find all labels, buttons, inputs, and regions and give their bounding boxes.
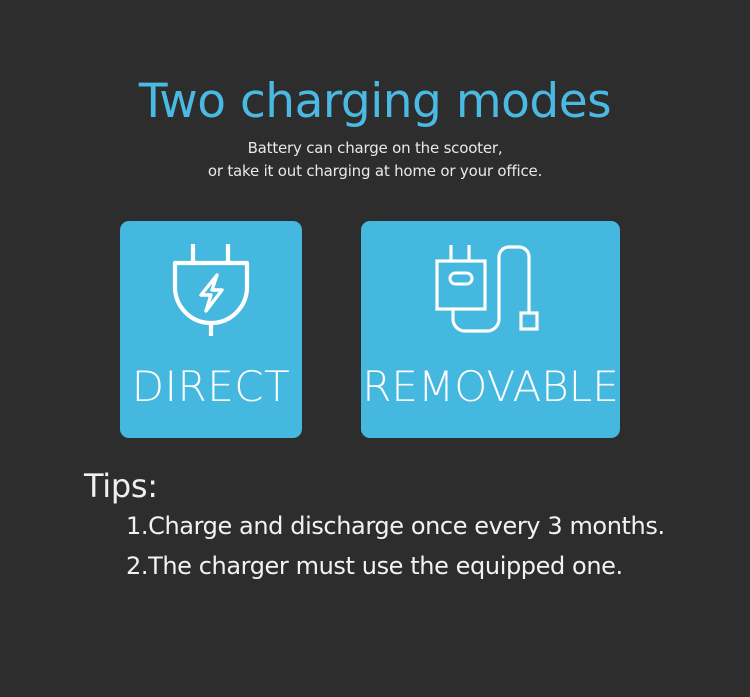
tips-heading: Tips: — [84, 466, 724, 506]
charger-adapter-icon — [361, 221, 620, 357]
subtitle-line-2: or take it out charging at home or your … — [0, 160, 750, 183]
card-direct[interactable]: DIRECT — [120, 221, 302, 438]
list-item: 1.Charge and discharge once every 3 mont… — [126, 506, 724, 546]
list-item: 2.The charger must use the equipped one. — [126, 546, 724, 586]
card-removable[interactable]: REMOVABLE — [361, 221, 620, 438]
card-removable-label: REMOVABLE — [361, 361, 620, 413]
subtitle-line-1: Battery can charge on the scooter, — [0, 137, 750, 160]
page-title: Two charging modes — [0, 74, 750, 130]
power-plug-icon — [120, 221, 302, 357]
tips-list: 1.Charge and discharge once every 3 mont… — [84, 506, 724, 586]
page-subtitle: Battery can charge on the scooter, or ta… — [0, 130, 750, 183]
tips-section: Tips: 1.Charge and discharge once every … — [84, 466, 724, 586]
header: Two charging modes Battery can charge on… — [0, 74, 750, 183]
promo-page: Two charging modes Battery can charge on… — [0, 0, 750, 697]
card-direct-label: DIRECT — [120, 361, 302, 413]
